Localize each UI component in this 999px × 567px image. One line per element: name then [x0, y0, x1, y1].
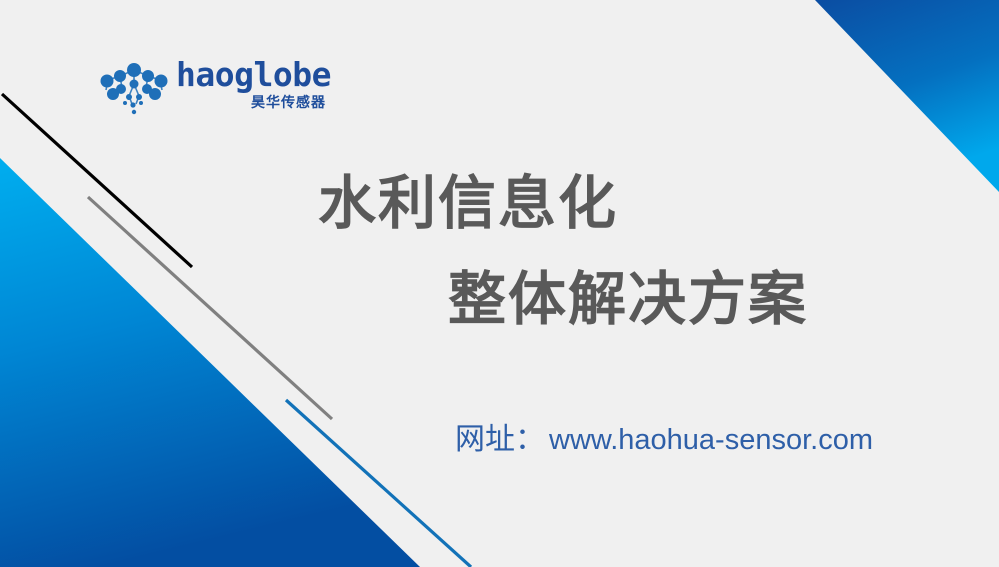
- top-right-triangle: [815, 0, 999, 192]
- gray-diagonal-line: [88, 197, 332, 419]
- logo-wordmark: haoglobe 昊华传感器: [176, 58, 326, 120]
- company-logo: haoglobe 昊华传感器: [96, 56, 326, 122]
- page-title-line-1: 水利信息化: [318, 168, 618, 240]
- website-line: 网址：www.haohua-sensor.com: [455, 420, 873, 465]
- website-label: 网址：: [455, 423, 545, 456]
- page-title-line-2: 整体解决方案: [448, 264, 808, 336]
- slide-canvas: haoglobe 昊华传感器 水利信息化 整体解决方案 网址：www.haohu…: [0, 0, 999, 567]
- logo-wordmark-text: haoglobe: [176, 58, 326, 92]
- logo-wordmark-subtext: 昊华传感器: [176, 94, 326, 112]
- website-url[interactable]: www.haohua-sensor.com: [549, 424, 873, 456]
- blue-diagonal-line: [286, 400, 471, 567]
- network-nodes-icon: [96, 60, 172, 116]
